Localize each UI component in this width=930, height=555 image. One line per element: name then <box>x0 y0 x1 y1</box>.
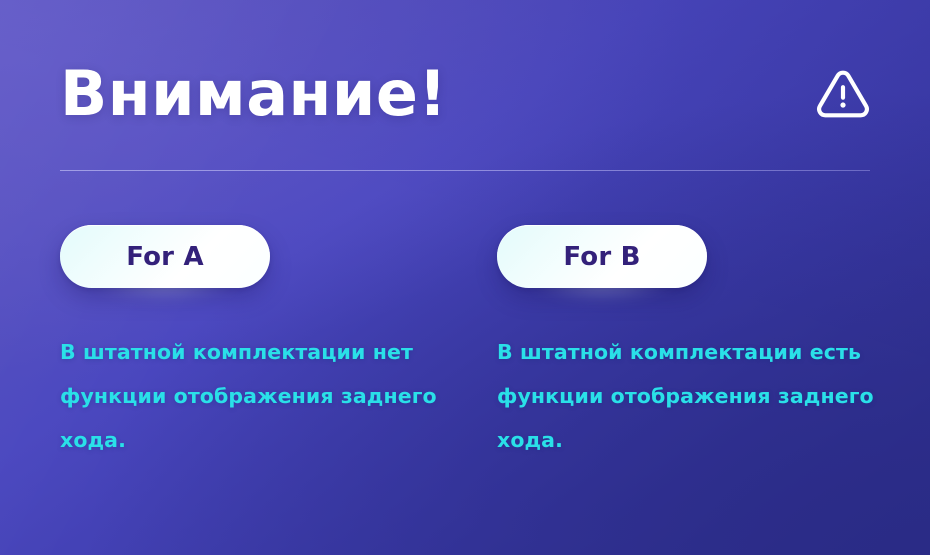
header: Внимание! <box>60 46 872 142</box>
for-a-button[interactable]: For A <box>60 225 270 288</box>
column-for-a: For A В штатной комплектации нет функции… <box>60 225 452 462</box>
for-b-description: В штатной комплектации есть функции отоб… <box>497 288 889 462</box>
button-for-b-wrapper: For B <box>497 225 707 288</box>
warning-triangle-icon <box>814 65 872 123</box>
page-title: Внимание! <box>60 63 447 125</box>
for-a-description: В штатной комплектации нет функции отобр… <box>60 288 452 462</box>
for-b-button[interactable]: For B <box>497 225 707 288</box>
column-for-b: For B В штатной комплектации есть функци… <box>497 225 889 462</box>
header-divider <box>60 170 870 171</box>
slide-root: Внимание! For A В штатной комплектации н… <box>0 0 930 555</box>
button-for-a-wrapper: For A <box>60 225 270 288</box>
